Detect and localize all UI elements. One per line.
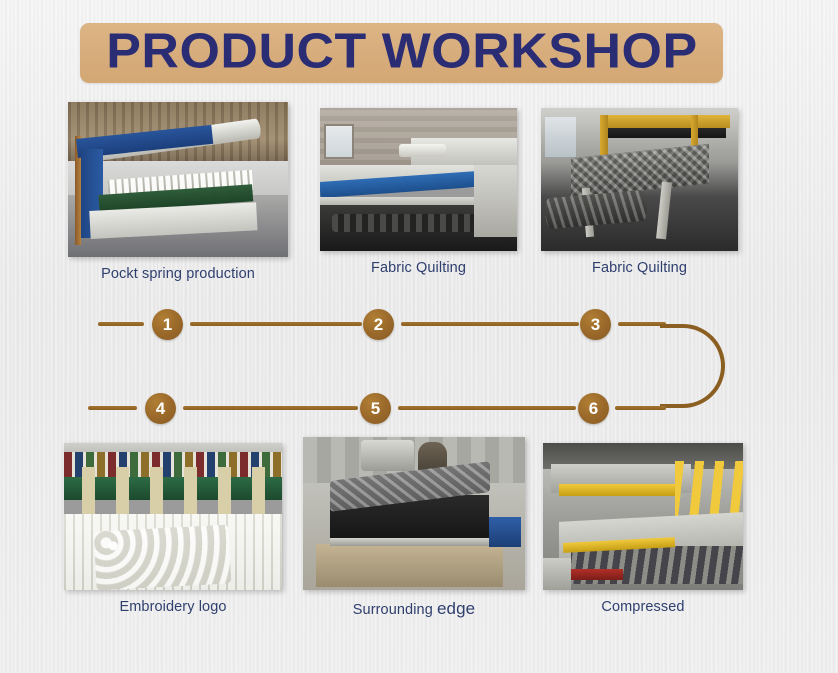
photo-compressed — [543, 443, 743, 590]
photo-embroidery-logo — [64, 443, 282, 590]
photo4-embroidery-heads — [68, 467, 277, 517]
flow-line-start — [98, 322, 144, 326]
photo6-red-label — [571, 569, 623, 579]
flow-node-4[interactable]: 4 — [145, 393, 176, 424]
caption-5-part1: Surrounding — [353, 602, 437, 618]
flow-node-2[interactable]: 2 — [363, 309, 394, 340]
photo2-machine-arm — [399, 144, 446, 157]
photo3-yellow-gantry — [600, 115, 730, 128]
gallery-card-5[interactable]: Surrounding edge — [303, 437, 525, 619]
gallery-card-2[interactable]: Fabric Quilting — [320, 108, 517, 276]
photo5-blue-bin — [489, 517, 520, 548]
photo2-window — [324, 124, 354, 159]
flow-line-3-turn — [618, 322, 666, 326]
photo2-rollers — [332, 214, 486, 233]
caption-6: Compressed — [543, 599, 743, 615]
workshop-infographic: PRODUCT WORKSHOP Pockt spring production — [0, 0, 838, 673]
flow-line-6-turn — [615, 406, 666, 410]
flow-line-2-3 — [401, 322, 579, 326]
caption-2: Fabric Quilting — [320, 260, 517, 276]
photo3-window — [545, 117, 577, 157]
caption-3: Fabric Quilting — [541, 260, 738, 276]
process-flow: 1 2 3 4 5 6 — [0, 290, 838, 440]
photo-fabric-quilting-a — [320, 108, 517, 251]
page-title: PRODUCT WORKSHOP — [80, 28, 723, 77]
caption-5: Surrounding edge — [303, 599, 525, 619]
flow-node-6[interactable]: 6 — [578, 393, 609, 424]
flow-line-4-5 — [183, 406, 358, 410]
title-banner: PRODUCT WORKSHOP — [80, 23, 723, 83]
photo6-yellow-press-bar — [559, 484, 675, 496]
flow-uturn-connector — [660, 324, 725, 408]
photo5-mattress-trim — [330, 538, 490, 546]
flow-line-5-6 — [398, 406, 576, 410]
flow-line-end — [88, 406, 137, 410]
gallery-card-6[interactable]: Compressed — [543, 443, 743, 615]
flow-node-3[interactable]: 3 — [580, 309, 611, 340]
gallery-card-1[interactable]: Pockt spring production — [68, 102, 288, 282]
page-title-text: PRODUCT WORKSHOP — [106, 28, 697, 77]
photo4-quilted-panel — [93, 525, 231, 590]
photo2-side-cabinet — [474, 165, 517, 237]
flow-node-1[interactable]: 1 — [152, 309, 183, 340]
flow-line-1-2 — [190, 322, 362, 326]
photo5-pallet — [316, 544, 502, 587]
flow-node-5[interactable]: 5 — [360, 393, 391, 424]
caption-4: Embroidery logo — [64, 599, 282, 615]
photo-pocket-spring-production — [68, 102, 288, 257]
gallery-card-4[interactable]: Embroidery logo — [64, 443, 282, 615]
photo-fabric-quilting-b — [541, 108, 738, 251]
gallery-card-3[interactable]: Fabric Quilting — [541, 108, 738, 276]
caption-5-part2: edge — [437, 599, 475, 618]
photo5-tape-edge-machine — [361, 440, 414, 471]
caption-1: Pockt spring production — [68, 266, 288, 282]
photo6-yellow-rack — [675, 461, 743, 517]
photo6-base-cabinet — [543, 558, 571, 590]
photo-surrounding-edge — [303, 437, 525, 590]
